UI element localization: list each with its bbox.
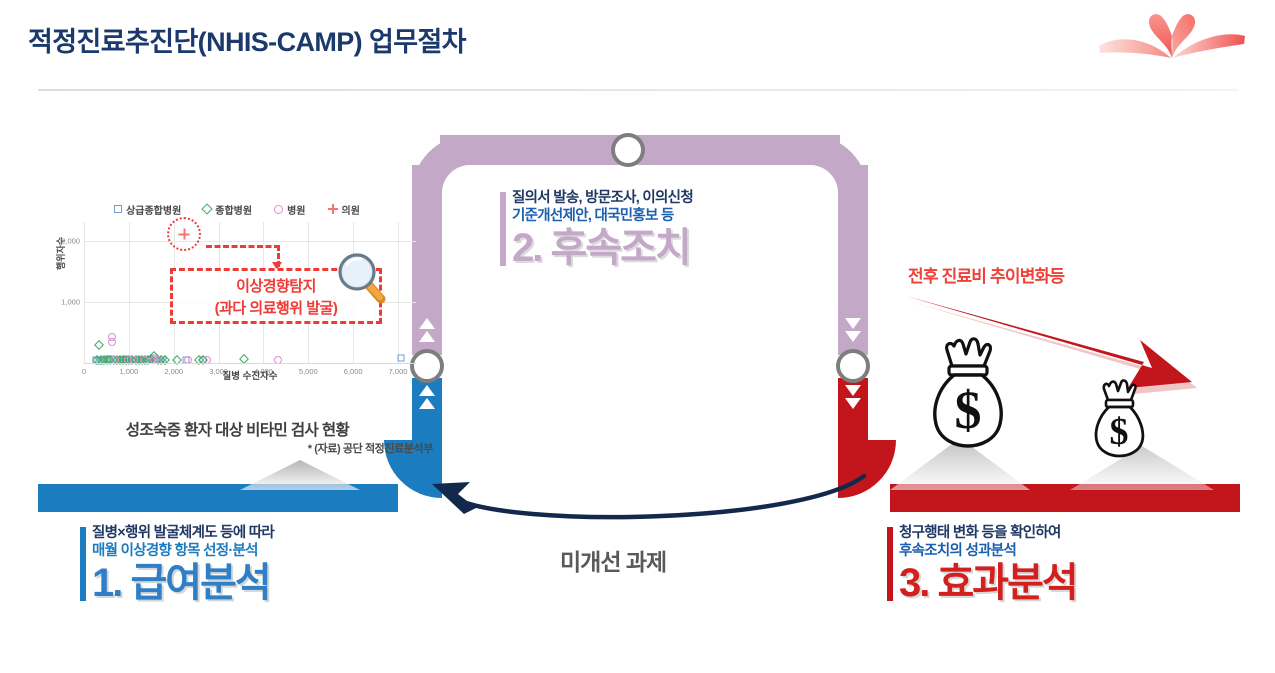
callout-line-2: (과다 의료행위 발굴) <box>215 297 338 318</box>
chart-ytick-label: 2,000 <box>61 236 80 245</box>
step-3-subtitle-1: 청구행태 변화 등을 확인하여 <box>899 525 1077 543</box>
step-1-subtitle-1: 질병×행위 발굴체계도 등에 따라 <box>92 525 274 543</box>
legend-item-1: 종합병원 <box>203 202 252 217</box>
step-3-title: 3. 효과분석 <box>899 561 1077 605</box>
step-3-accent-bar <box>887 527 893 601</box>
svg-text:$: $ <box>955 380 982 440</box>
chart-gridline-y <box>84 241 416 242</box>
step-1-title: 1. 급여분석 <box>92 561 274 605</box>
legend-label-2: 병원 <box>287 202 305 217</box>
chart-x-axis <box>84 363 416 364</box>
unimproved-feedback-arrow <box>420 470 880 540</box>
legend-label-0: 상급종합병원 <box>126 202 181 217</box>
flow-arrow-down-purple-2 <box>845 331 861 342</box>
chart-datapoint <box>94 341 104 351</box>
chart-gridline-x <box>84 222 85 364</box>
chart-caption: 성조숙증 환자 대상 비타민 검사 현황 <box>55 418 420 440</box>
page-title: 적정진료추진단(NHIS-CAMP) 업무절차 <box>28 20 466 59</box>
money-bag-icon-large: $ <box>930 336 1006 450</box>
step-1-analysis: 질병×행위 발굴체계도 등에 따라 매월 이상경향 항목 선정·분석 1. 급여… <box>80 525 274 605</box>
chart-datapoint <box>397 355 404 362</box>
circle-marker-icon <box>274 205 283 214</box>
step-3-effect: 청구행태 변화 등을 확인하여 후속조치의 성과분석 3. 효과분석 <box>887 525 1077 605</box>
chart-x-axis-label: 질병 수진자수 <box>84 368 416 382</box>
step-2-subtitle-2: 기준개선제안, 대국민홍보 등 <box>512 208 693 226</box>
slide-canvas: 적정진료추진단(NHIS-CAMP) 업무절차 <box>0 0 1275 673</box>
callout-line-1: 이상경향탐지 <box>236 275 316 296</box>
step-2-followup: 질의서 발송, 방문조사, 이의신청 기준개선제안, 대국민홍보 등 2. 후속… <box>500 190 693 270</box>
legend-item-2: 병원 <box>274 202 305 217</box>
legend-item-3: 의원 <box>328 202 360 217</box>
nhis-heart-ribbon-logo <box>1097 6 1247 72</box>
svg-text:$: $ <box>1110 411 1129 453</box>
hill-decoration-left <box>170 456 390 490</box>
step-3-subtitle-2: 후속조치의 성과분석 <box>899 543 1077 561</box>
flow-arrow-down-red-1 <box>845 385 861 396</box>
legend-item-0: 상급종합병원 <box>114 202 181 217</box>
chart-datapoint <box>108 338 116 346</box>
flow-hinge-right <box>836 349 870 383</box>
chart-legend: 상급종합병원 종합병원 병원 의원 <box>52 200 422 218</box>
flow-hinge-top <box>611 133 645 167</box>
chart-source-note: * (자료) 공단 적정진료분석부 <box>55 440 433 456</box>
callout-leader-horizontal <box>206 245 280 248</box>
unimproved-task-label: 미개선 과제 <box>560 543 666 577</box>
legend-label-3: 의원 <box>342 202 360 217</box>
magnifier-icon <box>336 252 390 308</box>
chart-gridline-x <box>129 222 130 364</box>
square-marker-icon <box>114 205 122 213</box>
trend-label: 전후 진료비 추이변화등 <box>908 262 1064 287</box>
chart-ytick-label: 1,000 <box>61 298 80 307</box>
money-bag-icon-small: $ <box>1092 378 1146 458</box>
title-divider <box>38 89 1238 91</box>
flow-arrow-down-red-2 <box>845 398 861 409</box>
flow-arrow-down-purple-1 <box>845 318 861 329</box>
outlier-highlight-ring <box>167 217 201 251</box>
step-2-accent-bar <box>500 192 506 266</box>
diamond-marker-icon <box>202 203 213 214</box>
step-1-subtitle-2: 매월 이상경향 항목 선정·분석 <box>92 543 274 561</box>
legend-label-1: 종합병원 <box>215 202 252 217</box>
chart-gridline-x <box>398 222 399 364</box>
step-1-accent-bar <box>80 527 86 601</box>
plus-marker-icon <box>328 204 338 214</box>
step-2-title: 2. 후속조치 <box>512 226 693 270</box>
step-2-subtitle-1: 질의서 발송, 방문조사, 이의신청 <box>512 190 693 208</box>
